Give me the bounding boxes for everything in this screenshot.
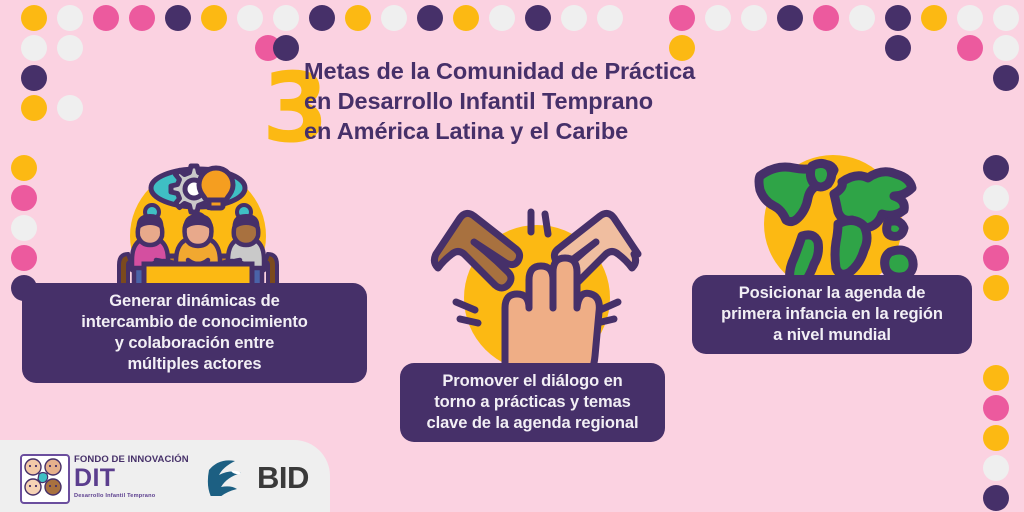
decorative-dot	[381, 5, 407, 31]
decorative-dot	[777, 5, 803, 31]
goal-2-caption: Promover el diálogo en torno a prácticas…	[400, 363, 665, 442]
decorative-dot	[21, 65, 47, 91]
footer-panel: FONDO DE INNOVACIÓN DIT Desarrollo Infan…	[0, 440, 330, 512]
decorative-dot	[983, 395, 1009, 421]
decorative-dot	[849, 5, 875, 31]
title-line-3: en América Latina y el Caribe	[304, 116, 695, 146]
dit-logo-mark	[20, 454, 70, 504]
decorative-dot	[983, 185, 1009, 211]
goal-3-caption-text: Posicionar la agenda de primera infancia…	[711, 283, 953, 346]
header-title-block: 3 Metas de la Comunidad de Práctica en D…	[262, 56, 822, 156]
decorative-dot	[993, 5, 1019, 31]
decorative-dot	[165, 5, 191, 31]
decorative-dot	[983, 245, 1009, 271]
decorative-dot	[561, 5, 587, 31]
decorative-dot	[957, 5, 983, 31]
dit-acronym: DIT	[74, 466, 189, 491]
decorative-dot	[11, 185, 37, 211]
decorative-dot	[21, 5, 47, 31]
decorative-dot	[993, 35, 1019, 61]
decorative-dot	[705, 5, 731, 31]
decorative-dot	[345, 5, 371, 31]
decorative-dot	[921, 5, 947, 31]
decorative-dot	[57, 5, 83, 31]
decorative-dot	[813, 5, 839, 31]
decorative-dot	[21, 35, 47, 61]
goal-3-caption: Posicionar la agenda de primera infancia…	[692, 275, 972, 354]
decorative-dot	[525, 5, 551, 31]
decorative-dot	[983, 215, 1009, 241]
decorative-dot	[957, 35, 983, 61]
decorative-dot	[983, 455, 1009, 481]
title-line-2: en Desarrollo Infantil Temprano	[304, 86, 695, 116]
decorative-dot	[983, 425, 1009, 451]
decorative-dot	[93, 5, 119, 31]
dit-tagline-bottom: Desarrollo Infantil Temprano	[74, 493, 189, 499]
bid-logo-text: BID	[257, 462, 309, 493]
decorative-dot	[597, 5, 623, 31]
decorative-dot	[453, 5, 479, 31]
decorative-dot	[741, 5, 767, 31]
decorative-dot	[669, 5, 695, 31]
hands-together-icon	[412, 190, 662, 380]
decorative-dot	[237, 5, 263, 31]
decorative-dot	[57, 95, 83, 121]
bid-logo: BID	[205, 458, 309, 496]
decorative-dot	[11, 155, 37, 181]
decorative-dot	[57, 35, 83, 61]
decorative-dot	[885, 5, 911, 31]
decorative-dot	[21, 95, 47, 121]
decorative-dot	[309, 5, 335, 31]
infographic-canvas: 3 Metas de la Comunidad de Práctica en D…	[0, 0, 1024, 512]
decorative-dot	[129, 5, 155, 31]
decorative-dot	[983, 275, 1009, 301]
decorative-dot	[983, 365, 1009, 391]
decorative-dot	[983, 155, 1009, 181]
bid-swoosh-icon	[205, 458, 251, 496]
goal-1-caption: Generar dinámicas de intercambio de cono…	[22, 283, 367, 383]
decorative-dot	[11, 245, 37, 271]
goal-1-caption-text: Generar dinámicas de intercambio de cono…	[71, 291, 318, 375]
title-lines: Metas de la Comunidad de Práctica en Des…	[304, 56, 695, 146]
dit-logo-text: FONDO DE INNOVACIÓN DIT Desarrollo Infan…	[74, 454, 189, 499]
decorative-dot	[417, 5, 443, 31]
decorative-dot	[201, 5, 227, 31]
decorative-dot	[993, 65, 1019, 91]
decorative-dot	[273, 5, 299, 31]
decorative-dot	[983, 485, 1009, 511]
goal-2-caption-text: Promover el diálogo en torno a prácticas…	[417, 371, 649, 434]
decorative-dot	[489, 5, 515, 31]
decorative-dot	[885, 35, 911, 61]
title-line-1: Metas de la Comunidad de Práctica	[304, 56, 695, 86]
decorative-dot	[11, 215, 37, 241]
